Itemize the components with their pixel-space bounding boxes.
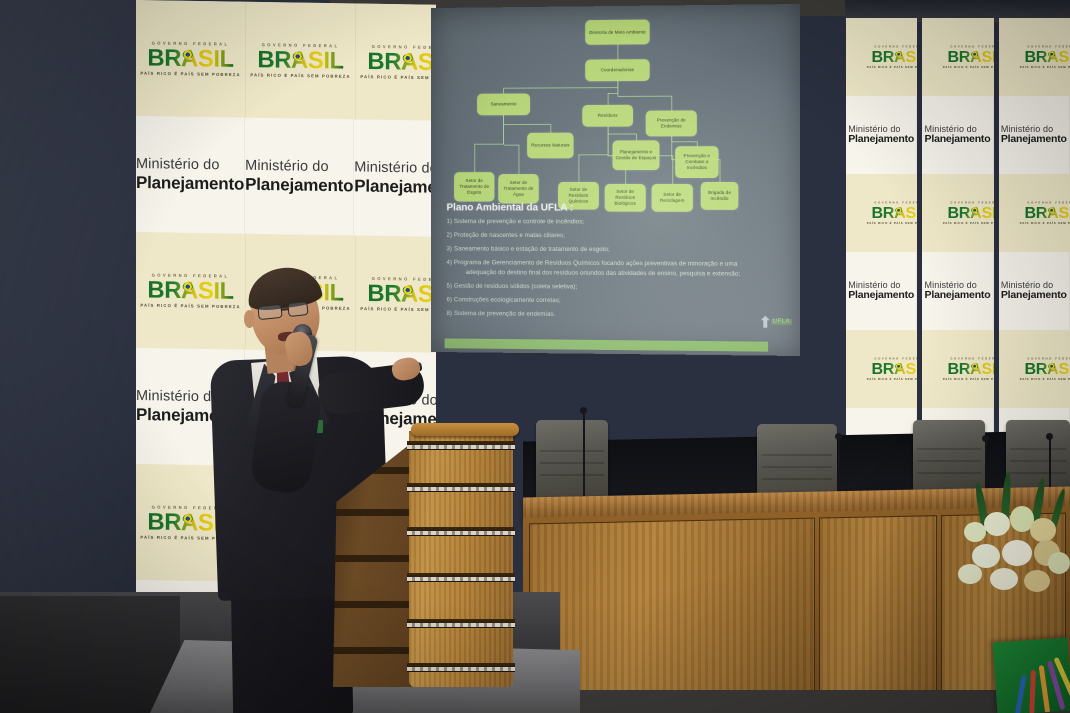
banner-row-logo: GOVERNO FEDERAL BRASIL PAÍS RICO É PAÍS … [922, 174, 993, 252]
banner-row-ministry: Ministério do Planejamento [999, 252, 1070, 330]
ministry-line2: Planejamento [1001, 134, 1067, 146]
banner-row-logo: GOVERNO FEDERAL BRASIL PAÍS RICO É PAÍS … [922, 18, 993, 96]
banner-ministry-cell: Ministério do Planejamento [846, 252, 917, 330]
tree-icon [761, 316, 770, 328]
banner-row-ministry: Ministério do Planejamento [999, 96, 1070, 174]
org-node: Planejamento e Gestão de Espaços [613, 140, 660, 170]
ministry-wordmark: Ministério do Planejamento [1001, 280, 1067, 302]
conference-photo: GOVERNO FEDERAL BRASIL PAÍS RICO É PAÍS … [0, 0, 1070, 713]
slide-bullet: 4)Programa de Gerenciamento de Resíduos … [447, 259, 791, 269]
slide-bullet-index: 2) [447, 232, 453, 239]
brasil-logo-tagline: PAÍS RICO É PAÍS SEM POBREZA [1019, 222, 1070, 225]
slide-bullet-text: Sistema de prevenção e controle de incên… [454, 218, 584, 225]
dais-base-shadow [523, 690, 1070, 713]
chair [757, 424, 837, 502]
dais-panel [819, 515, 937, 697]
banner-row-logo: GOVERNO FEDERAL BRASIL PAÍS RICO É PAÍS … [846, 18, 917, 96]
banner-logo-cell: GOVERNO FEDERAL BRASIL PAÍS RICO É PAÍS … [846, 174, 917, 252]
org-connector [504, 124, 551, 125]
org-chart: Diretoria de Meio AmbienteCoordenadorias… [431, 4, 800, 210]
brasil-logo-tagline: PAÍS RICO É PAÍS SEM POBREZA [867, 66, 918, 69]
flower [1048, 552, 1070, 574]
slide-bullet-index: 5) [447, 283, 453, 290]
ministry-line2: Planejamento [245, 174, 353, 195]
ministry-line2: Planejamento [925, 134, 991, 146]
brasil-logo: GOVERNO FEDERAL BRASIL PAÍS RICO É PAÍS … [867, 201, 918, 225]
banner-row-ministry: Ministério do Planejamento [846, 252, 917, 330]
banner-row-ministry: Ministério do Planejamento [846, 96, 917, 174]
brazil-flag-icon [895, 363, 902, 369]
org-connector [607, 127, 608, 156]
slide-bullet-text: Saneamento básico e estação de tratament… [454, 246, 610, 254]
slide-bullet: 5)Gestão de resíduos sólidos (coleta sel… [447, 283, 791, 294]
vertical-banner: GOVERNO FEDERAL BRASIL PAÍS RICO É PAÍS … [846, 18, 917, 448]
org-node: Recursos Naturais [527, 133, 573, 159]
brazil-flag-icon [1048, 51, 1055, 57]
sign-graphic [1015, 675, 1027, 713]
microphone-head-icon [580, 407, 587, 414]
slide-bullet: 6)Construções ecologicamente corretas; [447, 297, 791, 308]
brazil-flag-icon [1048, 207, 1055, 213]
ministry-wordmark: Ministério do Planejamento [245, 158, 353, 195]
flower [1024, 570, 1050, 592]
ministry-line2: Planejamento [136, 173, 244, 194]
ministry-line1: Ministério do [245, 158, 353, 176]
org-connector [503, 115, 504, 144]
brasil-logo-tagline: PAÍS RICO É PAÍS SEM POBREZA [943, 378, 994, 381]
speaker-ear [244, 310, 255, 328]
brasil-logo: GOVERNO FEDERAL BRASIL PAÍS RICO É PAÍS … [867, 357, 918, 381]
slide-bullet-index: 4) [447, 259, 453, 266]
ministry-wordmark: Ministério do Planejamento [1001, 124, 1067, 146]
backdrop-logo-cell: GOVERNO FEDERAL BRASIL PAÍS RICO É PAÍS … [246, 2, 356, 120]
banner-row-logo: GOVERNO FEDERAL BRASIL PAÍS RICO É PAÍS … [999, 18, 1070, 96]
brasil-logo-word: BRASIL [948, 49, 994, 64]
banner-row-logo: GOVERNO FEDERAL BRASIL PAÍS RICO É PAÍS … [846, 174, 917, 252]
banner-logo-cell: GOVERNO FEDERAL BRASIL PAÍS RICO É PAÍS … [999, 18, 1070, 96]
slide-corner-logo: UFLA [761, 316, 792, 328]
flower [1002, 540, 1032, 566]
projection-screen: Diretoria de Meio AmbienteCoordenadorias… [431, 4, 800, 356]
org-node: Saneamento [477, 93, 530, 115]
slide-bullet-index: 1) [447, 218, 453, 225]
brasil-logo-word: BRASIL [1024, 205, 1070, 220]
brasil-logo-word: BRASIL [258, 48, 344, 72]
banner-row-logo: GOVERNO FEDERAL BRASIL PAÍS RICO É PAÍS … [846, 330, 917, 408]
brasil-logo: GOVERNO FEDERAL BRASIL PAÍS RICO É PAÍS … [1019, 45, 1070, 69]
ministry-line2: Planejamento [1001, 290, 1067, 302]
org-connector [617, 45, 618, 52]
slide-title: Plano Ambiental da UFLA : [447, 202, 791, 214]
banner-logo-cell: GOVERNO FEDERAL BRASIL PAÍS RICO É PAÍS … [999, 330, 1070, 408]
org-connector [719, 159, 720, 182]
slide-bullet-text: Gestão de resíduos sólidos (coleta selet… [454, 283, 577, 291]
banner-row-logo: GOVERNO FEDERAL BRASIL PAÍS RICO É PAÍS … [999, 330, 1070, 408]
ministry-line2: Planejamento [925, 290, 991, 302]
ministry-wordmark: Ministério do Planejamento [925, 280, 991, 302]
brasil-logo: GOVERNO FEDERAL BRASIL PAÍS RICO É PAÍS … [361, 44, 436, 81]
brazil-flag-icon [895, 207, 902, 213]
slide-bullet-text: adequação do destino final dos resíduos … [466, 269, 741, 278]
backdrop-row-ministry: Ministério do Planejamento Ministério do… [136, 116, 436, 237]
org-connector [617, 96, 671, 97]
banner-ministry-cell: Ministério do Planejamento [922, 252, 993, 330]
org-connector [671, 136, 672, 159]
brasil-logo: GOVERNO FEDERAL BRASIL PAÍS RICO É PAÍS … [867, 45, 918, 69]
org-connector [550, 124, 551, 133]
vertical-banner: GOVERNO FEDERAL BRASIL PAÍS RICO É PAÍS … [999, 18, 1070, 448]
slide-bullet-text: Proteção de nascentes e matas ciliares; [454, 232, 565, 239]
podium-front-panel [409, 431, 513, 687]
chair [536, 420, 608, 500]
podium-top-rail [411, 423, 519, 436]
slide-bullet-text: Sistema de prevenção de endemias. [454, 310, 555, 318]
flower [964, 522, 986, 542]
slide-bullet-index: 3) [447, 246, 453, 253]
flower [984, 512, 1010, 536]
org-connector [617, 52, 618, 59]
brasil-logo-word: BRASIL [871, 49, 917, 64]
org-connector [635, 133, 636, 140]
brasil-logo-word: BRASIL [871, 205, 917, 220]
ministry-line1: Ministério do [354, 160, 436, 178]
brasil-logo-tagline: PAÍS RICO É PAÍS SEM POBREZA [867, 222, 918, 225]
backdrop-ministry-cell: Ministério do Planejamento [245, 118, 354, 236]
banner-logo-cell: GOVERNO FEDERAL BRASIL PAÍS RICO É PAÍS … [922, 174, 993, 252]
flower [972, 544, 1000, 568]
backdrop-ministry-cell: Ministério do Planejamento [354, 119, 436, 237]
wooden-podium [333, 425, 525, 693]
slide-bullet: 1)Sistema de prevenção e controle de inc… [447, 218, 791, 227]
slide-bullet: 3)Saneamento básico e estação de tratame… [447, 246, 791, 256]
org-connector [608, 133, 636, 134]
org-node: Diretoria de Meio Ambiente [585, 20, 649, 45]
slide-bullet-text: Programa de Gerenciamento de Resíduos Qu… [454, 259, 737, 267]
org-connector [504, 145, 519, 146]
org-connector [578, 154, 579, 182]
slide-footer-bar [445, 338, 769, 351]
org-connector [578, 154, 607, 155]
banner-logo-cell: GOVERNO FEDERAL BRASIL PAÍS RICO É PAÍS … [846, 18, 917, 96]
backdrop-logo-cell: GOVERNO FEDERAL BRASIL PAÍS RICO É PAÍS … [136, 0, 246, 118]
slide-text-block: Plano Ambiental da UFLA : 1)Sistema de p… [447, 202, 791, 328]
org-connector [474, 144, 503, 145]
banner-logo-cell: GOVERNO FEDERAL BRASIL PAÍS RICO É PAÍS … [846, 330, 917, 408]
flower [958, 564, 982, 584]
brasil-logo-tagline: PAÍS RICO É PAÍS SEM POBREZA [867, 378, 918, 381]
slide-bullet-text: Construções ecologicamente corretas; [454, 297, 561, 305]
brasil-logo: GOVERNO FEDERAL BRASIL PAÍS RICO É PAÍS … [250, 42, 350, 79]
brasil-logo-word: BRASIL [948, 361, 994, 376]
flower [990, 568, 1018, 590]
brazil-flag-icon [895, 51, 902, 57]
ministry-wordmark: Ministério do Planejamento [354, 160, 436, 197]
sign-graphic [1029, 670, 1036, 713]
brasil-logo: GOVERNO FEDERAL BRASIL PAÍS RICO É PAÍS … [943, 357, 994, 381]
org-connector [671, 96, 672, 111]
brasil-logo-word: BRASIL [1024, 361, 1070, 376]
brasil-logo: GOVERNO FEDERAL BRASIL PAÍS RICO É PAÍS … [1019, 357, 1070, 381]
brasil-logo-word: BRASIL [871, 361, 917, 376]
slide-bullet-index: 8) [447, 310, 453, 317]
brasil-logo: GOVERNO FEDERAL BRASIL PAÍS RICO É PAÍS … [1019, 201, 1070, 225]
brasil-logo-word: BRASIL [948, 205, 994, 220]
org-connector [671, 141, 697, 142]
brasil-logo-word: BRASIL [147, 46, 233, 70]
slide-bullet: adequação do destino final dos resíduos … [447, 269, 791, 280]
ministry-line2: Planejamento [848, 290, 914, 302]
table-microphone [583, 412, 585, 500]
brasil-logo: GOVERNO FEDERAL BRASIL PAÍS RICO É PAÍS … [943, 201, 994, 225]
slide-bullet: 2)Proteção de nascentes e matas ciliares… [447, 232, 791, 242]
brasil-logo: GOVERNO FEDERAL BRASIL PAÍS RICO É PAÍS … [140, 41, 240, 78]
org-connector [518, 145, 519, 174]
org-node: Resíduos [582, 105, 633, 127]
brazil-flag-icon [293, 52, 303, 60]
flower [1030, 518, 1056, 542]
ministry-line1: Ministério do [136, 156, 244, 174]
podium-side-panel [333, 437, 419, 687]
banner-ministry-cell: Ministério do Planejamento [999, 252, 1070, 330]
ministry-wordmark: Ministério do Planejamento [848, 280, 914, 302]
brasil-logo-tagline: PAÍS RICO É PAÍS SEM POBREZA [943, 66, 994, 69]
brasil-logo-tagline: PAÍS RICO É PAÍS SEM POBREZA [943, 222, 994, 225]
green-sign [993, 637, 1070, 713]
brasil-logo: GOVERNO FEDERAL BRASIL PAÍS RICO É PAÍS … [943, 45, 994, 69]
org-node: Prevenção de Endemias [646, 110, 697, 136]
org-connector [617, 81, 618, 96]
banner-row-logo: GOVERNO FEDERAL BRASIL PAÍS RICO É PAÍS … [922, 330, 993, 408]
banner-ministry-cell: Ministério do Planejamento [846, 96, 917, 174]
banner-stand-group: GOVERNO FEDERAL BRASIL PAÍS RICO É PAÍS … [846, 18, 1070, 448]
flower-arrangement [950, 478, 1070, 608]
brasil-logo-word: BRASIL [368, 50, 436, 74]
org-node: Coordenadorias [585, 59, 649, 81]
ministry-wordmark: Ministério do Planejamento [925, 124, 991, 146]
slide-logo-label: UFLA [771, 319, 792, 325]
banner-logo-cell: GOVERNO FEDERAL BRASIL PAÍS RICO É PAÍS … [922, 330, 993, 408]
slide-item-list: 1)Sistema de prevenção e controle de inc… [447, 218, 791, 322]
org-node: Setor de Tratamento de Esgoto [454, 172, 494, 201]
brazil-flag-icon [183, 282, 193, 290]
brazil-flag-icon [403, 54, 413, 62]
ministry-wordmark: Ministério do Planejamento [136, 156, 244, 193]
banner-row-ministry: Ministério do Planejamento [922, 252, 993, 330]
banner-logo-cell: GOVERNO FEDERAL BRASIL PAÍS RICO É PAÍS … [999, 174, 1070, 252]
banner-ministry-cell: Ministério do Planejamento [922, 96, 993, 174]
vertical-banner: GOVERNO FEDERAL BRASIL PAÍS RICO É PAÍS … [922, 18, 993, 448]
banner-row-logo: GOVERNO FEDERAL BRASIL PAÍS RICO É PAÍS … [999, 174, 1070, 252]
stage-floor-shadow [0, 596, 180, 713]
banner-row-ministry: Ministério do Planejamento [922, 96, 993, 174]
org-connector [607, 93, 608, 105]
backdrop-ministry-cell: Ministério do Planejamento [136, 116, 245, 234]
banner-logo-cell: GOVERNO FEDERAL BRASIL PAÍS RICO É PAÍS … [922, 18, 993, 96]
slide-bullet: 8)Sistema de prevenção de endemias. [447, 310, 791, 321]
org-node: Prevenção e Combate a Incêndios [675, 146, 718, 178]
backdrop-logo-cell: GOVERNO FEDERAL BRASIL PAÍS RICO É PAÍS … [356, 3, 436, 121]
banner-ministry-cell: Ministério do Planejamento [999, 96, 1070, 174]
slide-bullet-index: 6) [447, 297, 453, 304]
ministry-line2: Planejamento [354, 176, 436, 197]
org-node: Setor de Tratamento de Água [498, 174, 538, 204]
sign-graphic [1039, 665, 1051, 713]
backdrop-row-logo: GOVERNO FEDERAL BRASIL PAÍS RICO É PAÍS … [136, 0, 436, 121]
brasil-logo-tagline: PAÍS RICO É PAÍS SEM POBREZA [1019, 378, 1070, 381]
brazil-flag-icon [183, 50, 193, 58]
ministry-line2: Planejamento [848, 134, 914, 146]
brasil-logo-tagline: PAÍS RICO É PAÍS SEM POBREZA [1019, 66, 1070, 69]
brasil-logo-word: BRASIL [1024, 49, 1070, 64]
brazil-flag-icon [1048, 363, 1055, 369]
brazil-flag-icon [183, 514, 193, 522]
org-connector [504, 87, 618, 89]
ministry-wordmark: Ministério do Planejamento [848, 124, 914, 146]
org-connector [474, 144, 475, 172]
